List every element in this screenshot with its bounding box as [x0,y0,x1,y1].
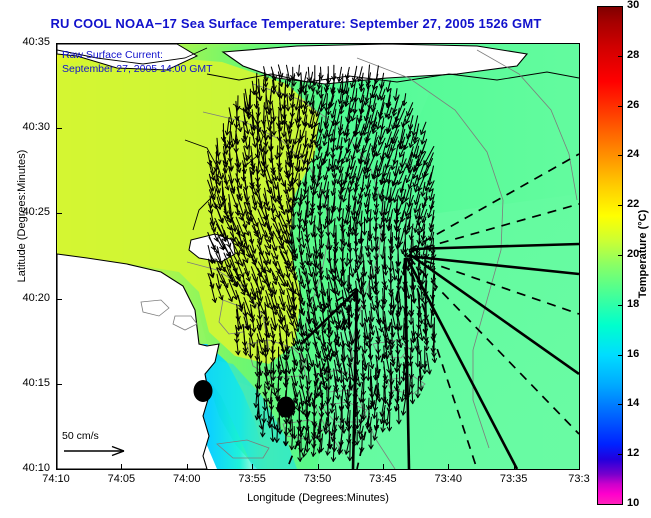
current-vector [266,139,267,154]
current-vector [378,346,379,360]
current-vector [370,266,371,279]
colorbar-tick-mark [618,355,623,356]
colorbar-tick-label: 28 [627,49,639,61]
x-tick-label: 74:10 [31,473,81,485]
current-vector [427,245,428,258]
x-tick-label: 73:35 [489,473,539,485]
colorbar-tick-label: 16 [627,348,639,360]
colorbar-tick-mark [618,255,623,256]
colorbar-tick-label: 14 [627,397,639,409]
x-tick-mark [448,464,449,470]
current-vector [285,181,286,194]
x-tick-mark [383,464,384,470]
x-tick-mark [579,464,580,470]
x-tick-mark [252,464,253,470]
x-axis-label: Longitude (Degrees:Minutes) [56,492,580,504]
map-svg [57,44,579,469]
current-annotation-line2: September 27, 2005 14:00 GMT [62,62,213,76]
current-annotation: Raw Surface Current: September 27, 2005 … [62,48,213,76]
y-tick-mark [56,43,62,44]
current-vector [362,435,363,452]
radar-site-east[interactable] [277,397,295,418]
colorbar-label: Temperature (°C) [637,174,649,334]
current-vector [287,74,288,87]
colorbar-tick-mark [618,155,623,156]
colorbar-tick-label: 26 [627,99,639,111]
colorbar-tick-label: 12 [627,447,639,459]
figure-title: RU COOL NOAA−17 Sea Surface Temperature:… [0,16,592,31]
current-vector [327,202,328,224]
y-tick-label: 40:30 [4,121,50,133]
velocity-scale-arrow-icon [62,442,136,460]
colorbar-tick-mark [618,106,623,107]
current-vector [294,74,295,86]
current-vector [341,411,342,429]
velocity-scale-label: 50 cm/s [62,430,136,442]
colorbar-tick-label: 10 [627,497,639,509]
y-tick-label: 40:35 [4,36,50,48]
current-vector [249,102,250,118]
velocity-scale-legend: 50 cm/s [62,430,136,465]
x-tick-label: 74:00 [162,473,212,485]
colorbar-tick-mark [618,305,623,306]
colorbar-tick-mark [618,56,623,57]
current-vector [298,427,299,446]
current-vector [385,390,386,403]
current-vector [274,117,275,135]
current-vector [356,397,357,416]
x-tick-mark [318,464,319,470]
current-vector [257,137,258,158]
current-vector [391,254,392,271]
x-tick-label: 73:40 [423,473,473,485]
y-tick-mark [56,384,62,385]
current-annotation-line1: Raw Surface Current: [62,48,213,62]
current-vector [434,246,435,259]
y-axis-label: Latitude (Degrees:Minutes) [16,136,28,296]
sst-map-figure: RU COOL NOAA−17 Sea Surface Temperature:… [0,0,651,518]
colorbar-tick-mark [618,6,623,7]
colorbar-tick-label: 30 [627,0,639,11]
current-vector [399,405,400,424]
x-tick-label: 73:55 [227,473,277,485]
x-tick-mark [514,464,515,470]
x-tick-mark [56,464,57,470]
current-vector [418,377,419,398]
colorbar-tick-mark [618,454,623,455]
colorbar-tick-mark [618,404,623,405]
y-tick-mark [56,299,62,300]
y-tick-mark [56,213,62,214]
colorbar-tick-label: 24 [627,148,639,160]
x-tick-mark [187,464,188,470]
current-vector [270,123,271,140]
map-plot-area[interactable] [56,43,580,470]
current-vector [391,282,392,297]
colorbar-tick-mark [618,504,623,505]
current-vector [398,275,399,290]
current-vector [364,404,365,420]
x-tick-label: 73:45 [358,473,408,485]
current-vector [256,73,257,95]
current-vector [399,370,400,385]
x-tick-label: 73:50 [293,473,343,485]
current-vector [306,397,307,417]
current-vector [425,319,426,333]
current-vector [370,369,371,391]
x-tick-label: 74:05 [96,473,146,485]
current-vector [271,362,272,374]
y-tick-label: 40:15 [4,377,50,389]
current-vector [300,130,301,143]
map-canvas [57,44,579,469]
current-vector [370,252,371,264]
colorbar-tick-mark [618,205,623,206]
y-tick-mark [56,128,62,129]
radar-site-west[interactable] [194,380,213,402]
